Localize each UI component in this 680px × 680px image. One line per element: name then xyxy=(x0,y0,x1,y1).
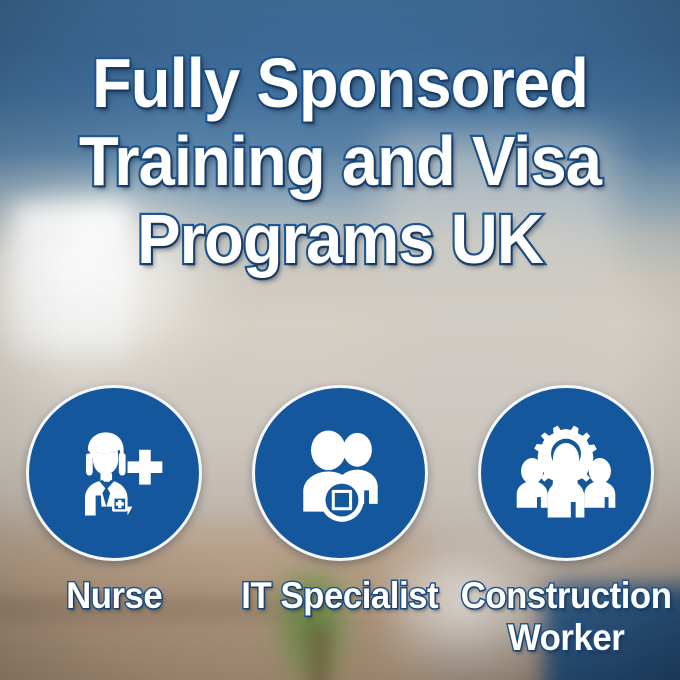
headline-line-1: Fully Sponsored xyxy=(33,44,647,122)
headline: Fully Sponsored Training and Visa Progra… xyxy=(0,44,680,278)
construction-worker-icon-circle[interactable] xyxy=(478,385,654,561)
headline-line-3: Programs UK xyxy=(33,200,647,278)
category-item-construction-worker[interactable]: Construction Worker xyxy=(456,385,676,659)
category-label-construction-worker: Construction Worker xyxy=(461,575,672,659)
nurse-icon xyxy=(56,415,172,531)
it-specialist-icon-circle[interactable] xyxy=(252,385,428,561)
headline-line-2: Training and Visa xyxy=(33,122,647,200)
nurse-icon-circle[interactable] xyxy=(26,385,202,561)
category-item-it-specialist[interactable]: IT Specialist xyxy=(230,385,450,617)
category-item-nurse[interactable]: Nurse xyxy=(4,385,224,617)
category-label-it-specialist: IT Specialist xyxy=(242,575,439,617)
it-specialist-icon xyxy=(282,415,398,531)
poster-canvas: Fully Sponsored Training and Visa Progra… xyxy=(0,0,680,680)
construction-worker-icon xyxy=(508,415,624,531)
category-row: Nurse xyxy=(0,385,680,659)
category-label-nurse: Nurse xyxy=(66,575,162,617)
